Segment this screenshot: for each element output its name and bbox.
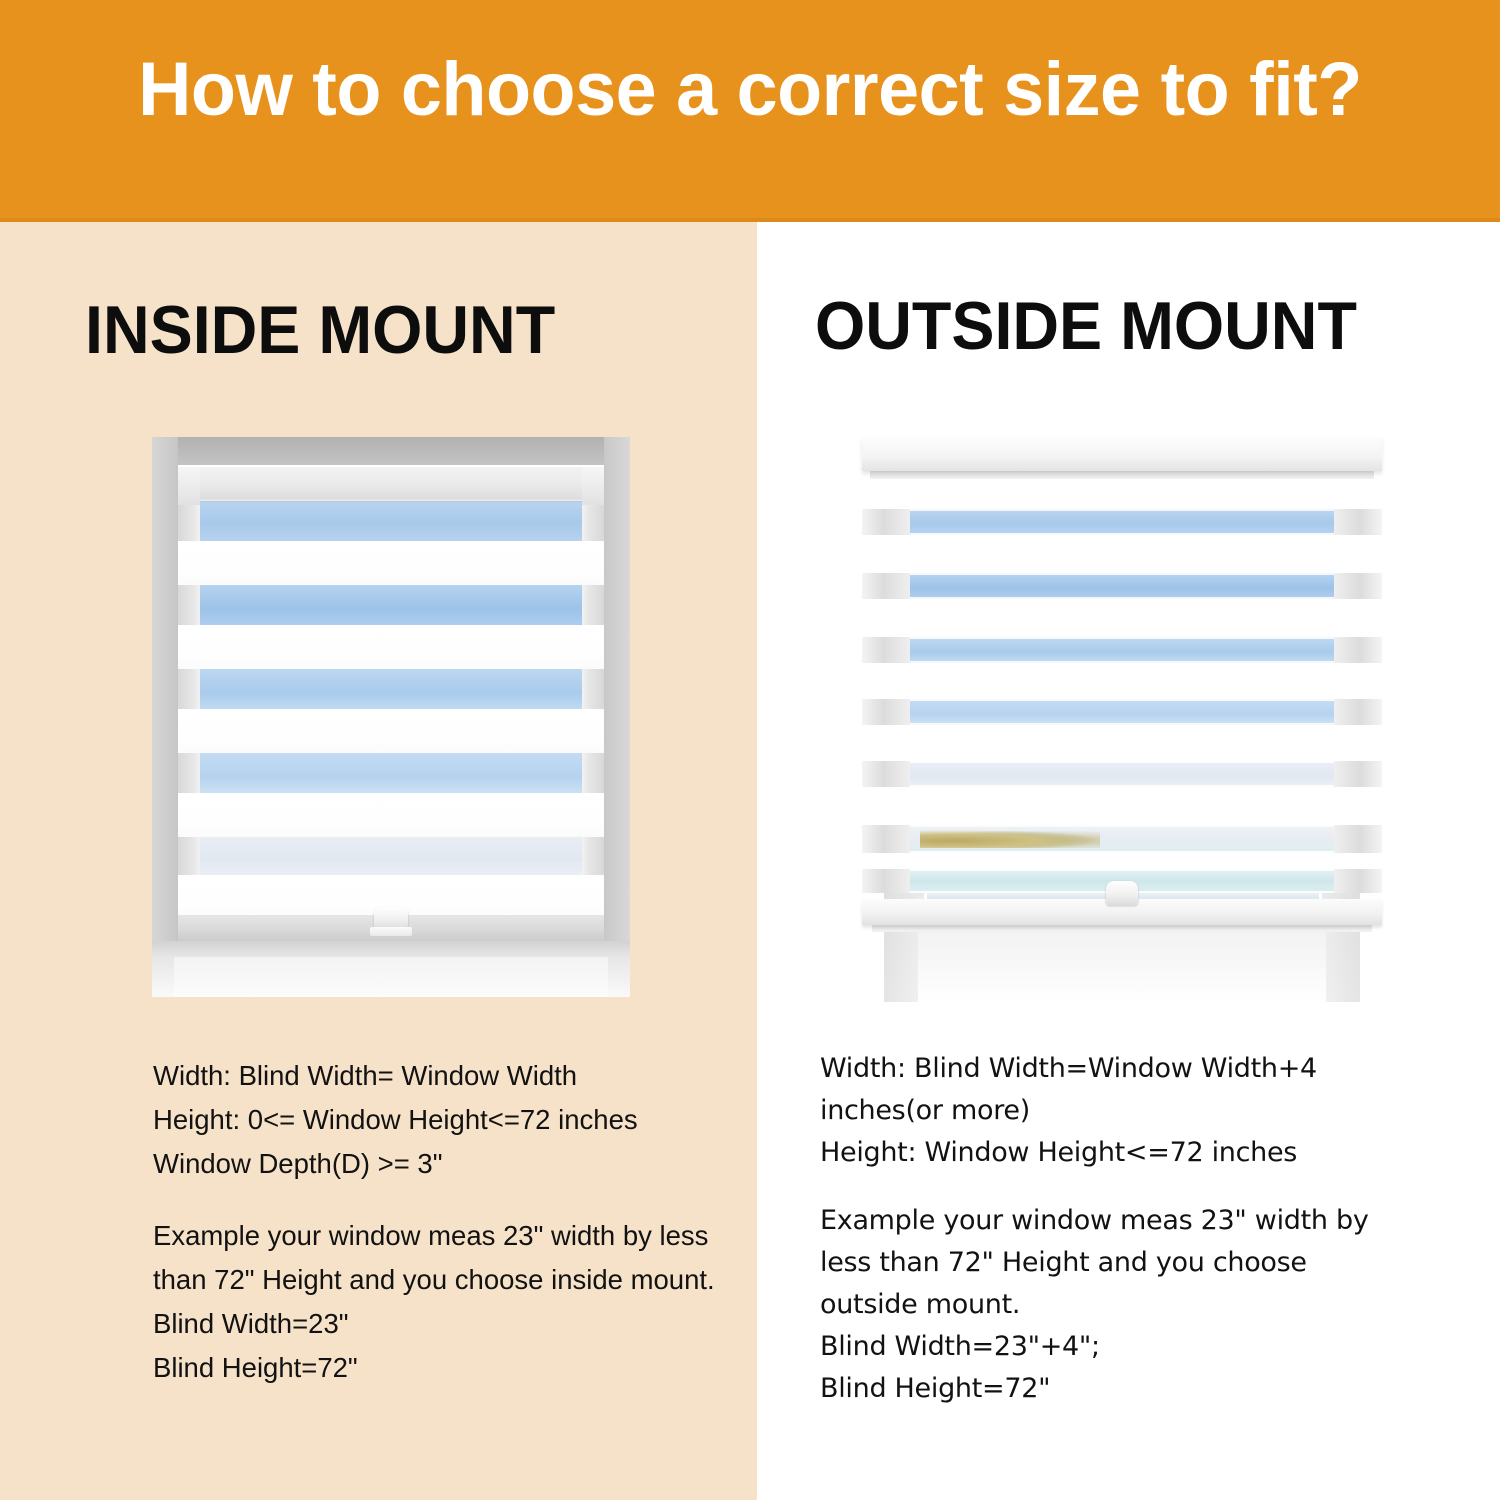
blind-opaque-band [178, 793, 604, 837]
blind-sheer-slat [862, 637, 1382, 663]
slat-cap-left [862, 699, 910, 725]
paragraph-spacer [820, 1174, 1400, 1200]
blind-sheer-slat-island [862, 825, 1382, 853]
slat-sheer-fabric [910, 637, 1334, 663]
blind-sheer-band [178, 669, 604, 709]
blind-headrail-underside [870, 471, 1374, 479]
slat-sheer-fabric [910, 761, 1334, 787]
blind-bottom-rail-underside [872, 925, 1372, 932]
paragraph-spacer [153, 1186, 733, 1214]
blind-sheer-slat [862, 699, 1382, 725]
blind-headrail [180, 467, 602, 499]
window-recess-floor [918, 960, 1326, 1002]
inside-example-paragraph: Example your window meas 23" width by le… [153, 1214, 733, 1302]
blind-sheer-slat [862, 509, 1382, 535]
slat-cap-right [1334, 573, 1382, 599]
blind-opaque-band [178, 709, 604, 753]
outside-mount-window-diagram [862, 437, 1382, 1002]
blind-side-channel-left [178, 837, 200, 875]
slat-cap-left [862, 637, 910, 663]
blind-side-channel-left [178, 669, 200, 709]
blind-opaque-band [178, 625, 604, 669]
blind-pull-handle-lip [370, 927, 412, 936]
blind-side-channel-right [582, 837, 604, 875]
slat-sheer-fabric [910, 509, 1334, 535]
inside-mount-window-diagram [152, 437, 630, 997]
slat-cap-right [1334, 869, 1382, 893]
slat-cap-right [1334, 825, 1382, 853]
blind-opaque-band [178, 541, 604, 585]
slat-cap-left [862, 573, 910, 599]
slat-cap-right [1334, 761, 1382, 787]
header-banner: How to choose a correct size to fit? [0, 0, 1500, 222]
blind-sheer-band [178, 585, 604, 625]
blind-side-channel-right [582, 585, 604, 625]
blind-side-channel-right [582, 669, 604, 709]
blind-sheer-slat [862, 573, 1382, 599]
inside-mount-text-block: Width: Blind Width= Window Width Height:… [153, 1054, 733, 1390]
slat-cap-left [862, 869, 910, 893]
zebra-blind-inside [178, 465, 604, 941]
blind-side-channel-left [178, 753, 200, 793]
blind-sheer-slat [862, 761, 1382, 787]
outside-spec-width: Width: Blind Width=Window Width+4 inches… [820, 1048, 1400, 1132]
blind-side-channel-left [178, 585, 200, 625]
inside-mount-title: INSIDE MOUNT [85, 296, 555, 364]
slat-cap-right [1334, 699, 1382, 725]
island-scenery [920, 830, 1100, 848]
slat-cap-left [862, 509, 910, 535]
window-reveal-right [604, 437, 630, 997]
outside-spec-height: Height: Window Height<=72 inches [820, 1132, 1400, 1174]
blind-headrail [862, 437, 1382, 471]
blind-pull-handle[interactable] [1106, 881, 1138, 905]
blind-sheer-band [178, 753, 604, 793]
page-title: How to choose a correct size to fit? [23, 52, 1478, 128]
headrail-bracket-left [178, 467, 200, 505]
inside-blind-width: Blind Width=23" [153, 1302, 733, 1346]
slat-cap-left [862, 825, 910, 853]
window-sill-face [174, 957, 608, 997]
outside-mount-text-block: Width: Blind Width=Window Width+4 inches… [820, 1048, 1400, 1410]
window-reveal-top [152, 437, 630, 465]
outside-mount-title: OUTSIDE MOUNT [815, 292, 1357, 360]
slat-sheer-fabric [910, 573, 1334, 599]
slat-sheer-fabric [910, 699, 1334, 725]
infographic-page: How to choose a correct size to fit? INS… [0, 0, 1500, 1500]
blind-sheer-band [178, 501, 604, 541]
outside-blind-width: Blind Width=23"+4"; [820, 1326, 1400, 1368]
slat-sheer-fabric [910, 825, 1334, 853]
slat-cap-right [1334, 637, 1382, 663]
inside-spec-line-3: Window Depth(D) >= 3" [153, 1142, 733, 1186]
slat-cap-left [862, 761, 910, 787]
inside-blind-height: Blind Height=72" [153, 1346, 733, 1390]
window-reveal-left [152, 437, 178, 997]
blind-side-channel-right [582, 501, 604, 541]
outside-example-paragraph: Example your window meas 23" width by le… [820, 1200, 1400, 1326]
blind-pull-handle[interactable] [374, 907, 408, 927]
blind-sheer-band [178, 837, 604, 875]
inside-spec-line-1: Width: Blind Width= Window Width [153, 1054, 733, 1098]
inside-spec-line-2: Height: 0<= Window Height<=72 inches [153, 1098, 733, 1142]
blind-side-channel-right [582, 753, 604, 793]
blind-side-channel-left [178, 501, 200, 541]
headrail-bracket-right [582, 467, 604, 505]
slat-cap-right [1334, 509, 1382, 535]
outside-blind-height: Blind Height=72" [820, 1368, 1400, 1410]
